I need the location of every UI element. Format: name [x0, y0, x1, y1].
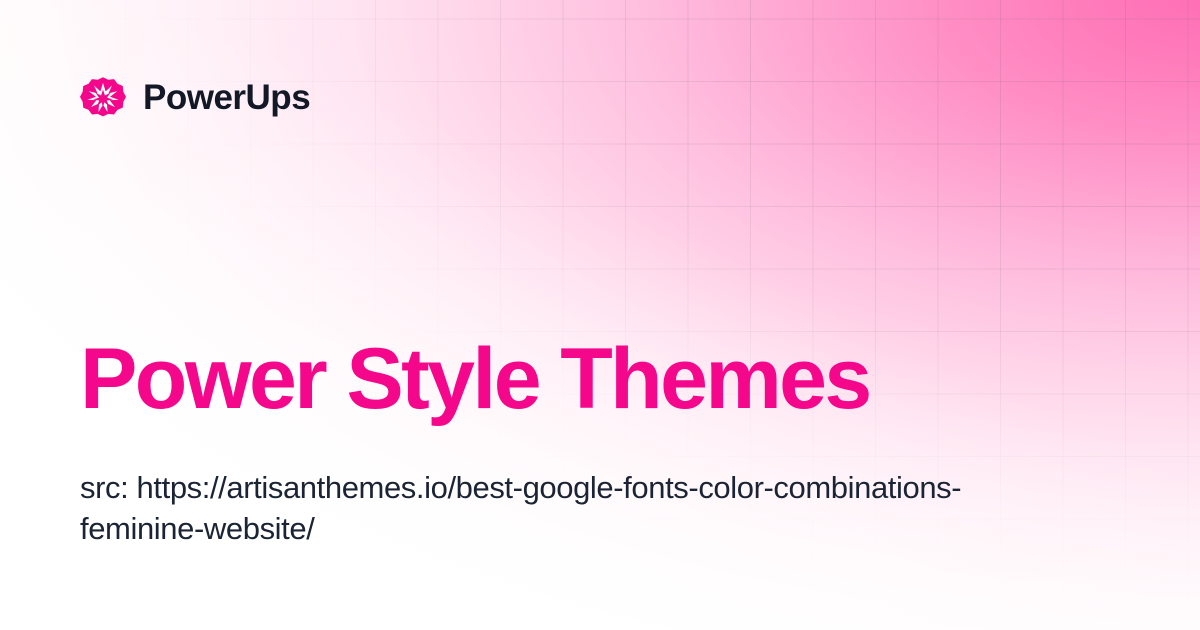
brand-lockup: PowerUps — [80, 74, 310, 120]
starburst-badge-icon — [80, 74, 126, 120]
source-url-text: src: https://artisanthemes.io/best-googl… — [80, 468, 980, 550]
og-card: PowerUps Power Style Themes src: https:/… — [0, 0, 1200, 630]
card-content: PowerUps Power Style Themes src: https:/… — [0, 0, 1200, 630]
page-title: Power Style Themes — [80, 336, 870, 424]
brand-name: PowerUps — [143, 80, 310, 115]
